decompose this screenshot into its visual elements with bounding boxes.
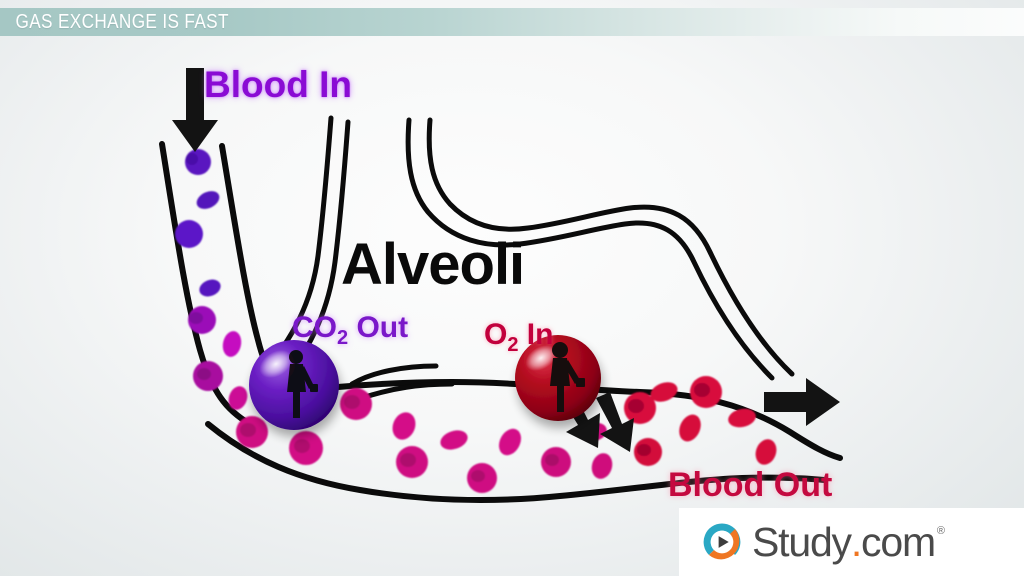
label-co2-out: CO2 Out: [292, 313, 408, 348]
logo-com-text: com: [861, 519, 935, 566]
o2-prefix: O: [484, 318, 507, 351]
o2-subscript: 2: [507, 334, 518, 356]
label-blood-in: Blood In: [204, 66, 352, 103]
logo-study-text: Study: [752, 519, 851, 566]
co2-prefix: CO: [292, 311, 337, 344]
co2-suffix: Out: [348, 311, 408, 344]
o2-suffix: In: [518, 318, 553, 351]
label-o2-in: O2 In: [484, 320, 553, 355]
co2-subscript: 2: [337, 327, 348, 349]
label-alveoli: Alveoli: [341, 236, 524, 294]
co2-sphere: [249, 340, 339, 430]
logo-wordmark: Study.com®: [752, 519, 944, 566]
slide-canvas: GAS EXCHANGE IS FAST: [0, 0, 1024, 576]
play-circle-icon: [701, 521, 743, 563]
registered-trademark-mark: ®: [937, 525, 944, 537]
study-com-logo[interactable]: Study.com®: [679, 508, 1024, 576]
blood-out-arrow: [764, 378, 840, 426]
logo-dot: .: [851, 519, 861, 566]
label-blood-out: Blood Out: [668, 468, 832, 502]
